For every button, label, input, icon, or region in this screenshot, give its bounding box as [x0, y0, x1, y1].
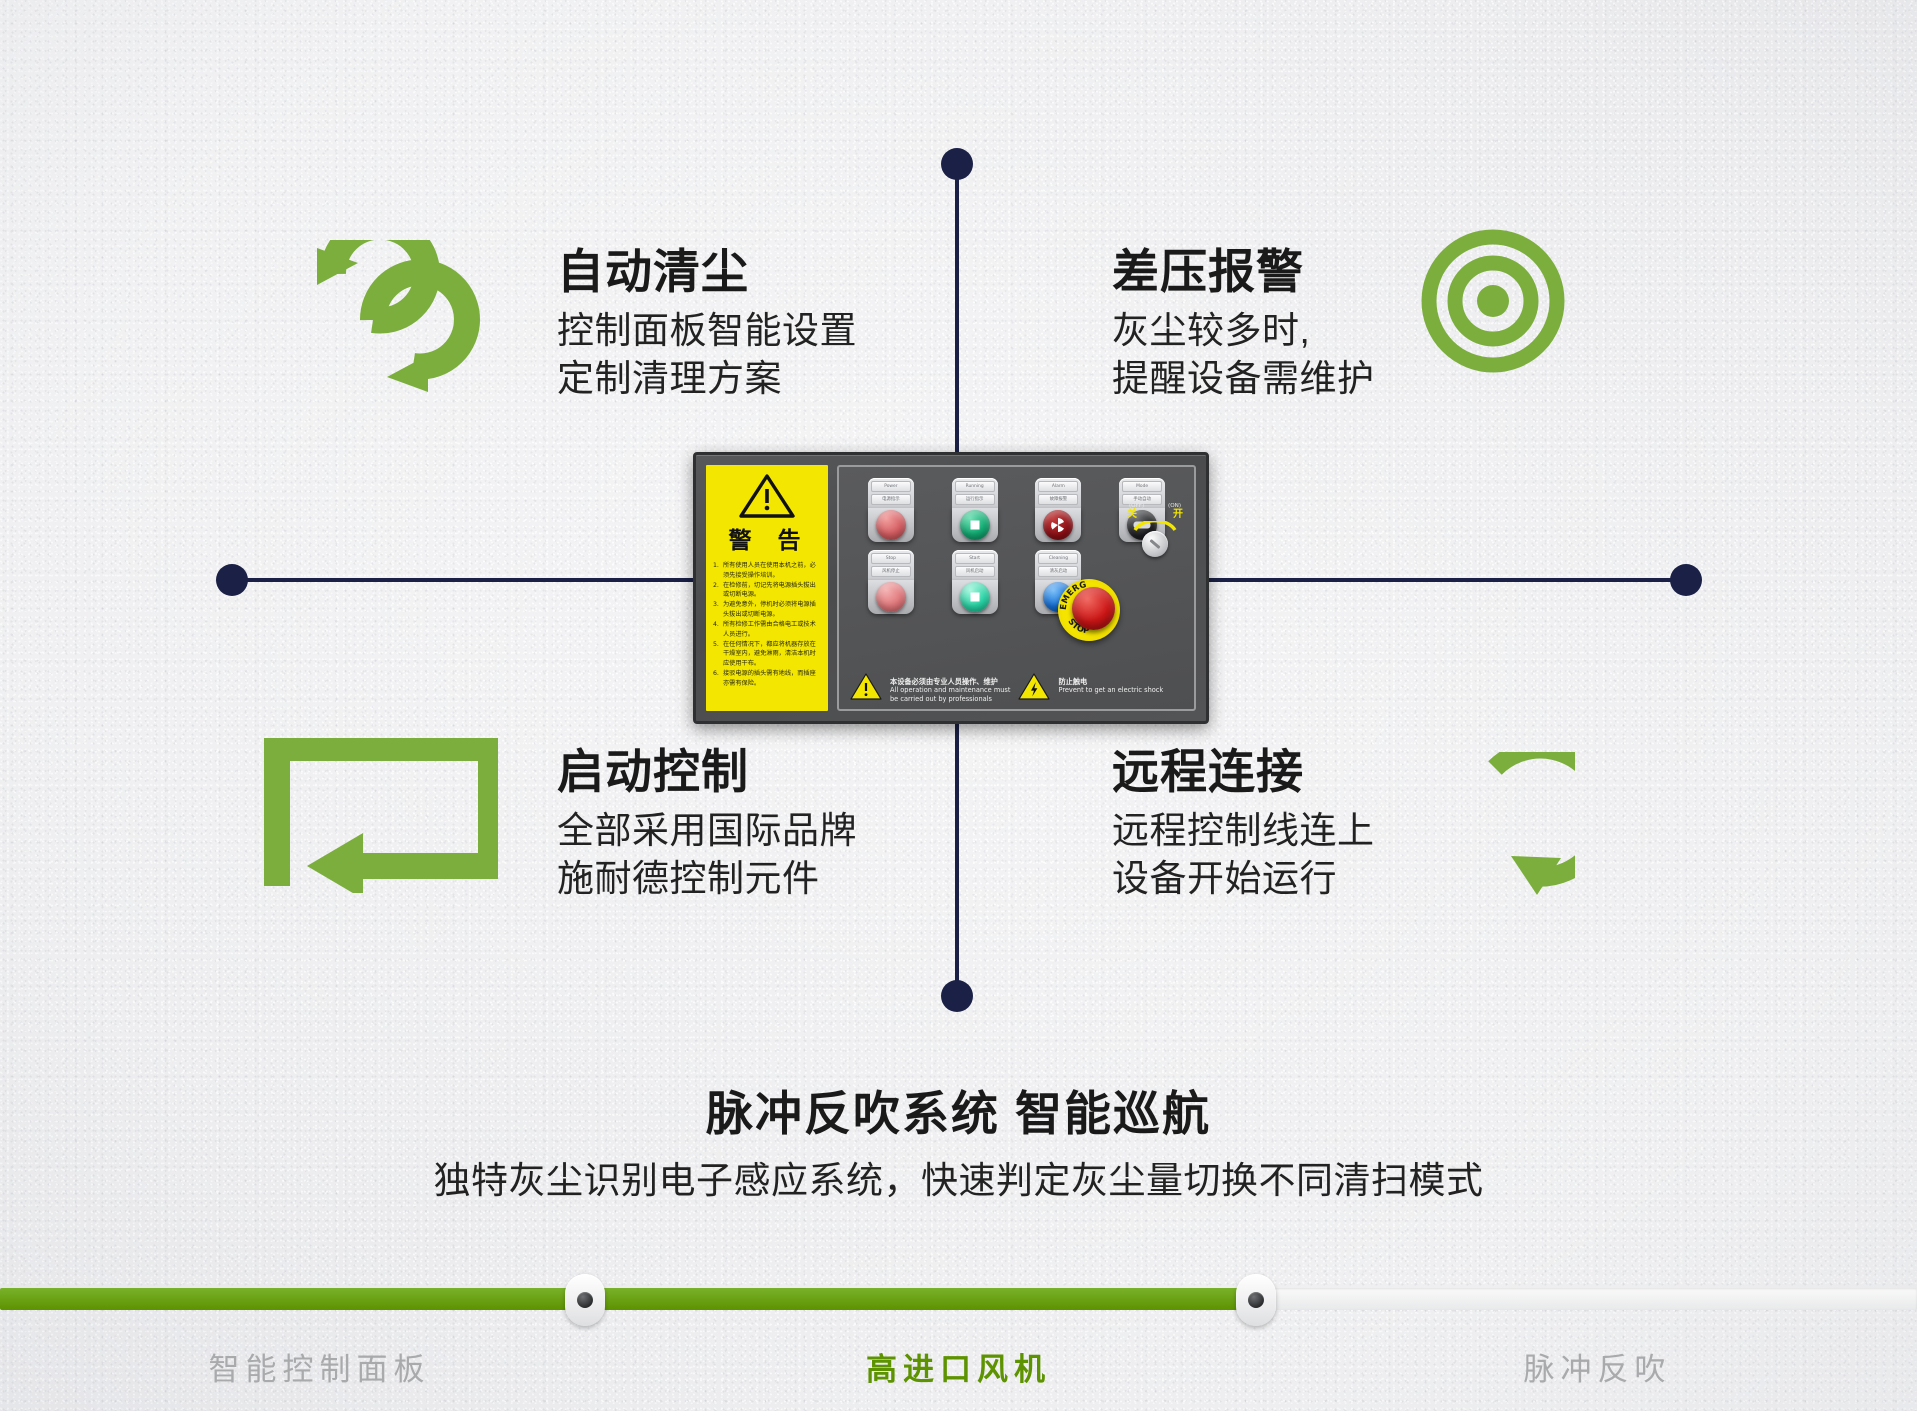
square-loop-arrow-icon [263, 738, 498, 898]
warning-item: 为避免意外，停机时必须将电源插头拔出或切断电源。 [723, 600, 821, 619]
button-tag-en: Cleaning [1038, 553, 1078, 564]
concentric-target-icon [1418, 226, 1568, 381]
warning-exclamation-triangle-icon [849, 672, 883, 701]
indicator-lamp [876, 582, 906, 612]
selector-on-cn: 开 [1173, 509, 1183, 521]
warning-item: 所有检修工作需由合格电工或技术人员进行。 [723, 620, 821, 639]
tab-smart-control-panel[interactable]: 智能控制面板 [0, 1344, 639, 1389]
subheadline: 独特灰尘识别电子感应系统，快速判定灰尘量切换不同清扫模式 [0, 1150, 1917, 1204]
connector-line-horizontal-left [230, 578, 693, 582]
feature-title: 自动清尘 [557, 246, 857, 299]
feature-title: 差压报警 [1112, 246, 1375, 299]
progress-track[interactable] [0, 1288, 1917, 1310]
warning-item: 在检修前，切记先将电源插头拔出或切断电源。 [723, 581, 821, 600]
feature-body: 远程控制线连上 设备开始运行 [1112, 807, 1375, 903]
notice-text-professional: 本设备必须由专业人员操作、维护 All operation and mainte… [890, 672, 1010, 703]
feature-body: 控制面板智能设置 定制清理方案 [557, 307, 857, 403]
control-panel-inner: Power电源指示 Running运行指示 Alarm故障报警 Mode手动自动 [837, 465, 1196, 711]
indicator-lamp [876, 510, 906, 540]
button-tag-cn: 电源指示 [871, 494, 911, 505]
connector-node-right [1670, 564, 1702, 596]
warning-label: 警 告 1.所有使用人员在使用本机之前，必须先接受操作培训。 2.在检修前，切记… [706, 465, 828, 711]
progress-fill [0, 1288, 1256, 1310]
panel-button-fan-stop[interactable]: Stop风机停止 [868, 550, 914, 614]
knob-center-dot [1248, 1292, 1264, 1308]
button-tag-en: Stop [871, 553, 911, 564]
knob-center-dot [577, 1292, 593, 1308]
emergency-stop-mushroom[interactable] [1072, 587, 1115, 630]
panel-button-alarm[interactable]: Alarm故障报警 [1035, 478, 1081, 542]
progress-knob-1[interactable] [565, 1274, 605, 1326]
fan-blade-icon [1050, 517, 1066, 533]
panel-notices: 本设备必须由专业人员操作、维护 All operation and mainte… [849, 672, 1186, 703]
warning-item: 所有使用人员在使用本机之前，必须先接受操作培训。 [723, 561, 821, 580]
notice-text-shock: 防止触电 Prevent to get an electric shock [1058, 672, 1163, 695]
feature-body: 灰尘较多时, 提醒设备需维护 [1112, 307, 1375, 403]
button-tag-en: Start [955, 553, 995, 564]
electric-shock-triangle-icon [1017, 672, 1051, 701]
connector-node-bottom [941, 980, 973, 1012]
panel-button-running[interactable]: Running运行指示 [952, 478, 998, 542]
button-tag-cn: 运行指示 [955, 494, 995, 505]
feature-body: 全部采用国际品牌 施耐德控制元件 [557, 807, 857, 903]
indicator-lamp [960, 510, 990, 540]
notice-en: Prevent to get an electric shock [1058, 686, 1163, 694]
selector-arc-icon [1124, 521, 1186, 530]
button-tag-en: Running [955, 481, 995, 492]
button-tag-cn: 故障报警 [1038, 494, 1078, 505]
control-panel-image: 警 告 1.所有使用人员在使用本机之前，必须先接受操作培训。 2.在检修前，切记… [693, 452, 1209, 724]
connector-node-top [941, 148, 973, 180]
indicator-lamp [960, 582, 990, 612]
button-tag-en: Alarm [1038, 481, 1078, 492]
headline: 脉冲反吹系统 智能巡航 [0, 1075, 1917, 1144]
selector-off-cn: 关 [1127, 509, 1137, 521]
tab-pulse-blowback[interactable]: 脉冲反吹 [1278, 1344, 1917, 1389]
notice-cn: 防止触电 [1058, 677, 1163, 686]
on-off-selector-switch[interactable]: (OFF) (ON) 关 开 [1124, 503, 1186, 557]
button-tag-cn: 清灰启动 [1038, 566, 1078, 577]
panel-button-power[interactable]: Power电源指示 [868, 478, 914, 542]
notice-cn: 本设备必须由专业人员操作、维护 [890, 677, 1010, 686]
emergency-stop-button[interactable]: EMERGE STOP [1058, 579, 1120, 641]
connector-line-horizontal-right [1209, 578, 1685, 582]
feature-auto-dust: 自动清尘 控制面板智能设置 定制清理方案 [557, 246, 857, 403]
circular-refresh-arrow-icon [1415, 752, 1575, 917]
feature-title: 启动控制 [557, 746, 857, 799]
button-tag-en: Mode [1122, 481, 1162, 492]
warning-item: 接驳电源的插头需有地线，而插座亦需有保险。 [723, 669, 821, 688]
notice-en: All operation and maintenance must be ca… [890, 686, 1010, 703]
warning-triangle-icon [739, 473, 795, 519]
warning-label-word: 警 告 [728, 521, 809, 555]
indicator-lamp [1043, 510, 1073, 540]
infinity-loop-arrows-icon [255, 240, 490, 405]
warning-label-list: 1.所有使用人员在使用本机之前，必须先接受操作培训。 2.在检修前，切记先将电源… [713, 561, 821, 689]
stop-square-icon [970, 593, 979, 602]
button-tag-cn: 风机启动 [955, 566, 995, 577]
warning-item: 在任何情况下，都应将机器存放在干燥室内，避免淋雨，清洁本机时应使用干布。 [723, 640, 821, 669]
button-tag-en: Power [871, 481, 911, 492]
feature-start-control: 启动控制 全部采用国际品牌 施耐德控制元件 [557, 746, 857, 903]
connector-node-left [216, 564, 248, 596]
tab-high-import-fan[interactable]: 高进口风机 [639, 1344, 1278, 1389]
footer-progress-nav: 智能控制面板 高进口风机 脉冲反吹 [0, 1266, 1917, 1411]
connector-line-vertical-bottom [955, 724, 959, 994]
panel-button-fan-start[interactable]: Start风机启动 [952, 550, 998, 614]
feature-title: 远程连接 [1112, 746, 1375, 799]
connector-line-vertical-top [955, 160, 959, 452]
button-tag-cn: 风机停止 [871, 566, 911, 577]
progress-knob-2[interactable] [1236, 1274, 1276, 1326]
feature-pressure-alarm: 差压报警 灰尘较多时, 提醒设备需维护 [1112, 246, 1375, 403]
selector-knob[interactable] [1142, 531, 1168, 557]
stop-square-icon [970, 521, 979, 530]
footer-tabs: 智能控制面板 高进口风机 脉冲反吹 [0, 1344, 1917, 1389]
feature-remote-connect: 远程连接 远程控制线连上 设备开始运行 [1112, 746, 1375, 903]
